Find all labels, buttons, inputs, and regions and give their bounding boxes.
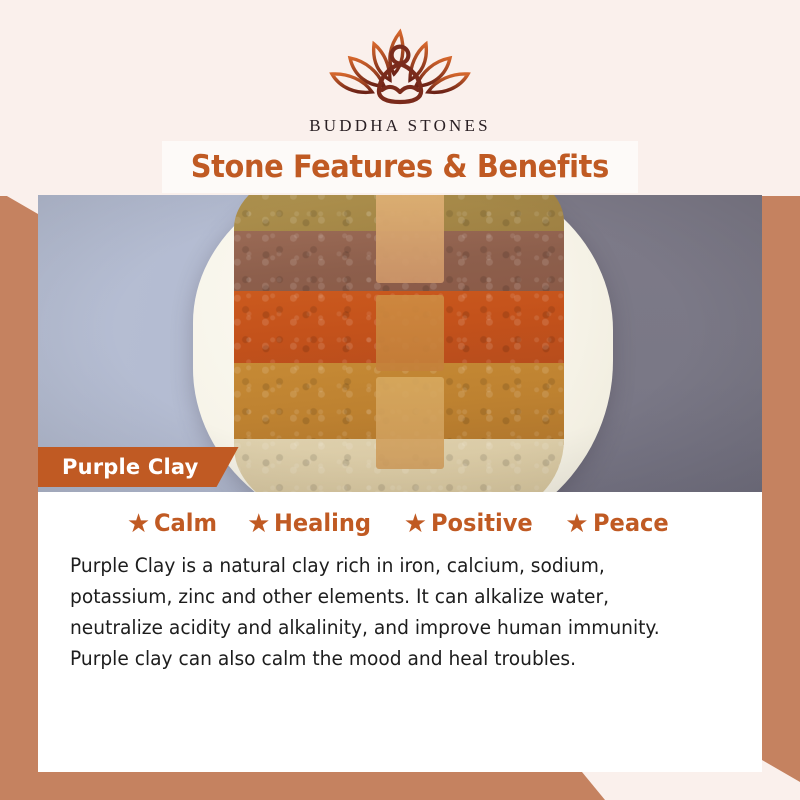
- feature-item: ★ Peace: [565, 509, 673, 537]
- brand-logo: BUDDHA STONES: [0, 22, 800, 136]
- stone-description: Purple Clay is a natural clay rich in ir…: [70, 550, 702, 674]
- feature-item: ★ Healing: [247, 509, 378, 537]
- star-icon: ★: [565, 510, 588, 536]
- infographic-page: BUDDHA STONES Stone Features & Benefits …: [0, 0, 800, 800]
- feature-label: Positive: [431, 509, 533, 537]
- frame-bottom-bar: [0, 772, 800, 800]
- powder-swatch: [376, 377, 444, 469]
- powder-swatch: [376, 195, 444, 283]
- title-banner: Stone Features & Benefits: [162, 141, 638, 193]
- clay-powder-bands: [234, 195, 564, 492]
- frame-left-bar: [0, 192, 38, 800]
- feature-label: Calm: [154, 509, 217, 537]
- powder-swatch: [376, 295, 444, 371]
- header: BUDDHA STONES Stone Features & Benefits: [0, 0, 800, 196]
- content-card: ★ Calm ★ Healing ★ Positive ★ Peace Purp…: [38, 492, 762, 772]
- page-title: Stone Features & Benefits: [191, 149, 609, 185]
- feature-label: Healing: [274, 509, 371, 537]
- star-icon: ★: [247, 510, 270, 536]
- feature-label: Peace: [593, 509, 669, 537]
- feature-list: ★ Calm ★ Healing ★ Positive ★ Peace: [38, 492, 762, 537]
- star-icon: ★: [404, 510, 427, 536]
- feature-item: ★ Calm: [127, 509, 221, 537]
- lotus-meditation-icon: [316, 22, 484, 114]
- stone-name: Purple Clay: [62, 455, 199, 479]
- feature-item: ★ Positive: [404, 509, 540, 537]
- brand-name: BUDDHA STONES: [0, 116, 800, 136]
- star-icon: ★: [127, 510, 150, 536]
- stone-name-tag: Purple Clay: [38, 447, 239, 487]
